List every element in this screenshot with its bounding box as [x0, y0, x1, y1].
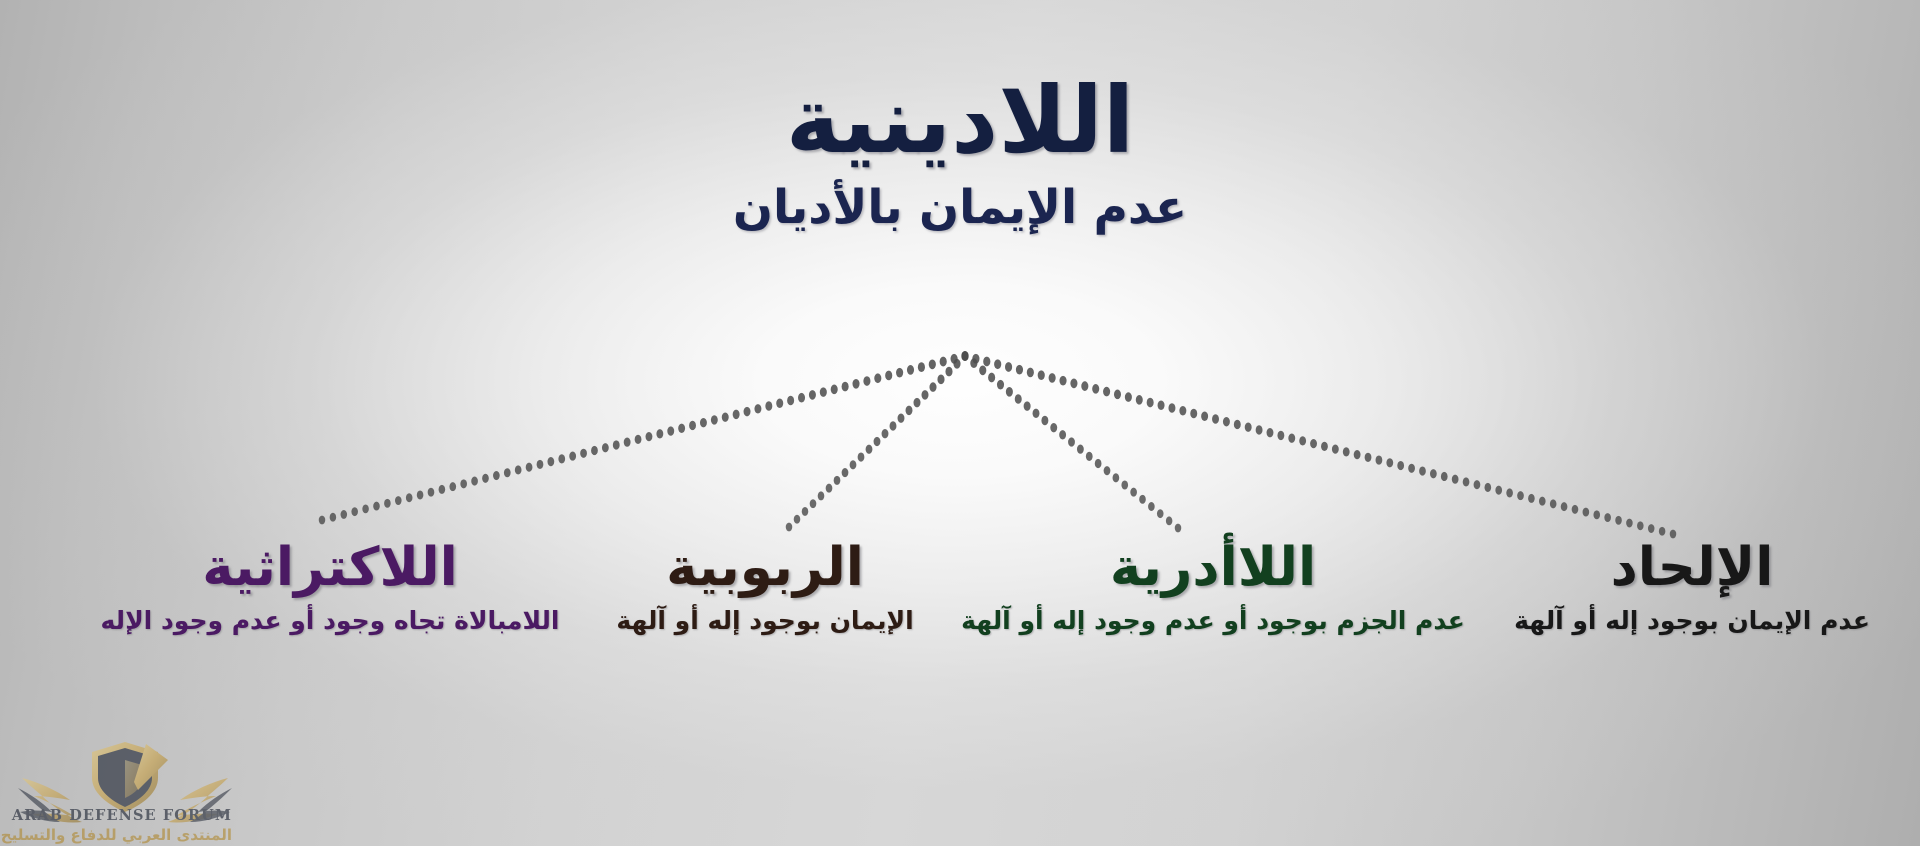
- connector-dot: [1092, 384, 1099, 394]
- connector-dot: [1484, 483, 1491, 492]
- connector-dot: [678, 424, 685, 433]
- connector-dot: [1049, 373, 1056, 383]
- connector-dot: [1637, 521, 1644, 530]
- connector-dot: [1528, 494, 1535, 503]
- connector-dot: [765, 401, 772, 411]
- connector-dot: [1086, 452, 1093, 461]
- connector-dot: [689, 421, 696, 430]
- connector-dot: [417, 491, 424, 500]
- connector-dot: [351, 507, 358, 516]
- page-title: اللادينية: [0, 74, 1920, 168]
- connector-dot: [569, 451, 576, 460]
- connector-dot: [1103, 387, 1110, 397]
- connector-dot: [547, 457, 554, 466]
- connector-dot: [460, 479, 467, 488]
- connector-dot: [624, 438, 631, 447]
- connector-dot: [858, 452, 865, 461]
- connector-dot: [1408, 464, 1415, 473]
- connector-dot: [994, 359, 1001, 369]
- connector-dot: [1572, 505, 1579, 514]
- connector-dot: [898, 413, 905, 422]
- connector-dot: [1130, 488, 1137, 497]
- connector-dot: [953, 359, 960, 369]
- connector-dot: [1441, 472, 1448, 481]
- connector-dot: [850, 460, 857, 469]
- connector-dot: [842, 382, 849, 392]
- connector-dot: [997, 380, 1004, 390]
- connector-dot: [885, 371, 892, 381]
- watermark-text-ar: المنتدى العربي للدفاع والتسليح: [18, 826, 232, 844]
- connector-dot: [1015, 394, 1022, 404]
- connector-dot: [373, 502, 380, 511]
- connector-dot: [1077, 445, 1084, 454]
- branch-description: عدم الإيمان بوجود إله أو آلهة: [1514, 606, 1870, 636]
- connector-dot: [362, 504, 369, 513]
- connector-dot: [1147, 398, 1154, 408]
- connector-dot: [951, 354, 958, 364]
- branch-description: اللامبالاة تجاه وجود أو عدم وجود الإله: [101, 606, 560, 636]
- connector-dot: [1365, 453, 1372, 462]
- connector-dot: [744, 407, 751, 416]
- connector-dot: [1157, 509, 1164, 518]
- connector-dot: [1386, 458, 1393, 467]
- connector-dot: [1234, 420, 1241, 429]
- connector-dot: [921, 390, 928, 400]
- connector-dot: [1212, 414, 1219, 423]
- connector-dot: [1397, 461, 1404, 470]
- connector-dot: [613, 440, 620, 449]
- connector-dot: [449, 482, 456, 491]
- branch-title: الربوبية: [616, 540, 913, 596]
- connector-dot: [1256, 425, 1263, 434]
- connector-dot: [787, 396, 794, 406]
- connector-dot: [961, 351, 968, 361]
- connector-dot: [914, 398, 921, 408]
- connector-dot: [341, 510, 348, 519]
- connector-dot: [970, 358, 977, 368]
- header-block: اللادينية عدم الإيمان بالأديان: [0, 74, 1920, 235]
- connector-dot: [558, 454, 565, 463]
- connector-dot: [1050, 423, 1057, 432]
- connector-dot: [1659, 527, 1666, 536]
- connector-dot: [1121, 480, 1128, 489]
- connector-dot: [1332, 444, 1339, 453]
- connector-dot: [802, 507, 809, 516]
- connector-dot: [1175, 524, 1182, 533]
- connector-dot: [1024, 401, 1031, 411]
- connector-dot: [526, 463, 533, 472]
- connector-dot: [834, 476, 841, 485]
- connector-dot: [1223, 417, 1230, 426]
- connector-dot: [1041, 416, 1048, 425]
- connector-dot: [896, 368, 903, 378]
- connector-dot: [1016, 365, 1023, 375]
- connector-dot: [1148, 502, 1155, 511]
- connector-dot: [1059, 376, 1066, 386]
- connector-dot: [1495, 486, 1502, 495]
- connector-dot: [929, 359, 936, 369]
- connector-dot: [1125, 392, 1132, 402]
- connector-dot: [945, 367, 952, 377]
- connector-dot: [1474, 480, 1481, 489]
- connector-dot: [580, 449, 587, 458]
- connector-dot: [1006, 387, 1013, 397]
- connector-dot: [1343, 447, 1350, 456]
- connector-dot: [1277, 431, 1284, 440]
- connector-dot: [979, 365, 986, 375]
- connector-dot: [1104, 466, 1111, 475]
- connector-dot: [537, 460, 544, 469]
- connector-dot: [1626, 519, 1633, 528]
- connector-dot: [406, 493, 413, 502]
- connector-dot: [1033, 409, 1040, 418]
- connector-dot: [515, 465, 522, 474]
- connector-dot: [667, 426, 674, 435]
- connector-dot: [1005, 362, 1012, 372]
- connector-dot: [863, 376, 870, 386]
- connector-dot: [1038, 370, 1045, 380]
- connector-dot: [1114, 390, 1121, 400]
- connector-dot: [1095, 459, 1102, 468]
- connector-dot: [794, 515, 801, 524]
- connector-dot: [1354, 450, 1361, 459]
- connector-dot: [1604, 513, 1611, 522]
- connector-dot: [906, 406, 913, 415]
- connector-dot: [852, 379, 859, 389]
- connector-dot: [656, 429, 663, 438]
- connector-dot: [1027, 368, 1034, 378]
- connector-dot: [1245, 423, 1252, 432]
- connector-dot: [1201, 412, 1208, 421]
- connector-dot: [1561, 502, 1568, 511]
- connector-dot: [1593, 510, 1600, 519]
- connector-dot: [635, 435, 642, 444]
- connector-dot: [428, 488, 435, 497]
- branch-content: الإلحادعدم الإيمان بوجود إله أو آلهة: [1514, 540, 1870, 636]
- connector-dot: [1288, 433, 1295, 442]
- connector-dot: [722, 412, 729, 421]
- branch-content: اللاأدريةعدم الجزم بوجود أو عدم وجود إله…: [961, 540, 1465, 636]
- connector-dot: [1550, 499, 1557, 508]
- branch-title: الإلحاد: [1514, 540, 1870, 596]
- connector-dot: [1463, 477, 1470, 486]
- connector-dot: [711, 415, 718, 424]
- connector-dot: [591, 446, 598, 455]
- connector-dot: [319, 516, 326, 525]
- connector-dot: [1190, 409, 1197, 418]
- connector-dot: [646, 432, 653, 441]
- connector-dot: [395, 496, 402, 505]
- connector-dot: [482, 474, 489, 483]
- connector-dot: [907, 365, 914, 375]
- connector-dot: [1267, 428, 1274, 437]
- connector-dot: [504, 468, 511, 477]
- connector-dot: [961, 351, 968, 361]
- connector-dot: [1059, 430, 1066, 439]
- connector-dot: [874, 373, 881, 383]
- connector-dot: [937, 374, 944, 384]
- connector-dot: [1168, 403, 1175, 413]
- connector-dot: [1376, 455, 1383, 464]
- branch-description: الإيمان بوجود إله أو آلهة: [616, 606, 913, 636]
- connector-dot: [826, 484, 833, 493]
- connector-dot: [1452, 475, 1459, 484]
- connector-dot: [1419, 466, 1426, 475]
- connector-dot: [961, 351, 968, 361]
- connector-dot: [733, 410, 740, 419]
- connector-dot: [493, 471, 500, 480]
- connector-dot: [831, 385, 838, 395]
- connector-dot: [983, 357, 990, 367]
- connector-dot: [809, 390, 816, 400]
- connector-dot: [1517, 491, 1524, 500]
- connector-dot: [1179, 406, 1186, 416]
- connector-dot: [1321, 442, 1328, 451]
- watermark-logo: ARAB DEFENSE FORUM المنتدى العربي للدفاع…: [18, 734, 232, 846]
- connector-dot: [1310, 439, 1317, 448]
- connector-dot: [818, 491, 825, 500]
- branch-description: عدم الجزم بوجود أو عدم وجود إله أو آلهة: [961, 606, 1465, 636]
- watermark-text-en: ARAB DEFENSE FORUM: [18, 807, 232, 824]
- connector-dot: [874, 437, 881, 446]
- connector-dot: [1430, 469, 1437, 478]
- connector-dot: [798, 393, 805, 403]
- connector-dot: [1299, 436, 1306, 445]
- connector-dot: [882, 429, 889, 438]
- connector-dot: [866, 445, 873, 454]
- connector-dot: [890, 421, 897, 430]
- connector-dot: [810, 499, 817, 508]
- connector-dot: [1081, 381, 1088, 391]
- connector-dot: [384, 499, 391, 508]
- connector-dot: [1158, 401, 1165, 411]
- connector-dot: [1068, 437, 1075, 446]
- connector-dot: [602, 443, 609, 452]
- connector-dot: [1136, 395, 1143, 405]
- connector-dot: [842, 468, 849, 477]
- connector-dot: [929, 382, 936, 392]
- infographic-canvas: اللادينية عدم الإيمان بالأديان الإلحادعد…: [0, 0, 1920, 846]
- connector-dot: [1583, 508, 1590, 517]
- connector-dot: [940, 357, 947, 367]
- page-subtitle: عدم الإيمان بالأديان: [0, 180, 1920, 235]
- connector-dot: [330, 513, 337, 522]
- connector-dot: [918, 362, 925, 372]
- branch-title: اللاأدرية: [961, 540, 1465, 596]
- connector-dot: [776, 398, 783, 408]
- connector-dot: [961, 351, 968, 361]
- connector-dot: [972, 354, 979, 364]
- branch-content: الربوبيةالإيمان بوجود إله أو آلهة: [616, 540, 913, 636]
- connector-dot: [1166, 516, 1173, 525]
- connector-dot: [1539, 497, 1546, 506]
- connector-dot: [988, 373, 995, 383]
- connector-dot: [754, 404, 761, 413]
- branch-title: اللاكتراثية: [101, 540, 560, 596]
- connector-dot: [1648, 524, 1655, 533]
- connector-dot: [700, 418, 707, 427]
- connector-dot: [1070, 379, 1077, 389]
- connector-dot: [786, 523, 793, 532]
- connector-dot: [471, 477, 478, 486]
- connector-dot: [1113, 473, 1120, 482]
- connector-dot: [1615, 516, 1622, 525]
- connector-dot: [1139, 495, 1146, 504]
- connector-dot: [1506, 488, 1513, 497]
- connector-dot: [439, 485, 446, 494]
- connector-dot: [820, 387, 827, 397]
- branch-content: اللاكتراثيةاللامبالاة تجاه وجود أو عدم و…: [101, 540, 560, 636]
